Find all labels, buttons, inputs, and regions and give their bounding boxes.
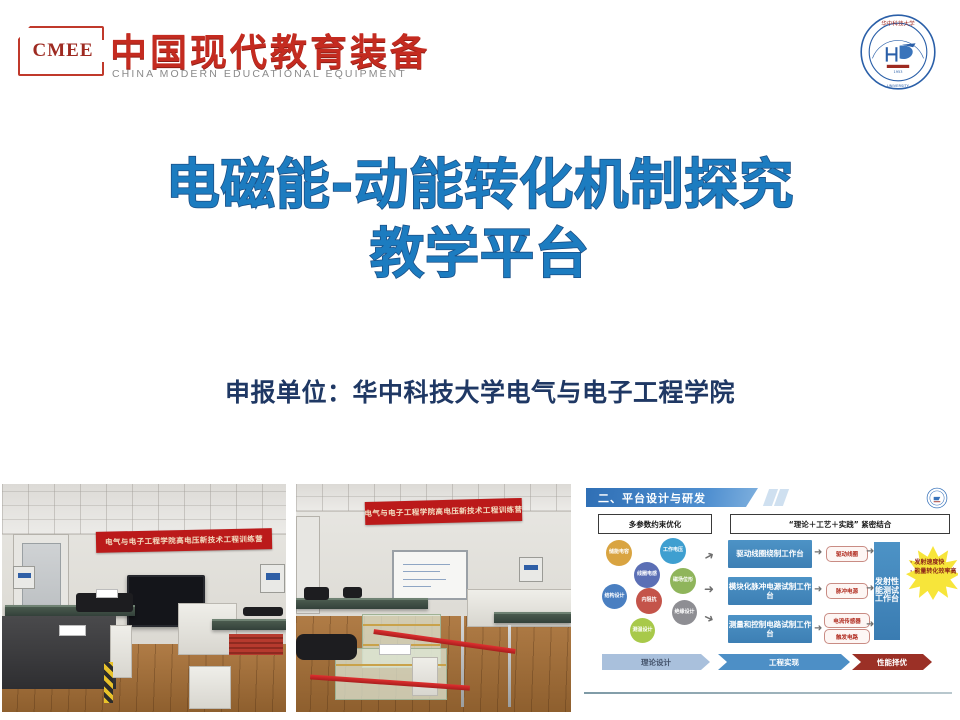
- arrow-to-bench-2: ➜: [704, 583, 714, 595]
- diagram-bottom-rule: [584, 692, 952, 694]
- cmee-logo: CMEE 中国现代教育装备 CHINA MODERN EDUCATIONAL E…: [18, 22, 348, 86]
- gear-1-label: 工作电压: [663, 548, 683, 553]
- gear-7-label: 测温设计: [632, 628, 652, 633]
- slide-page: CMEE 中国现代教育装备 CHINA MODERN EDUCATIONAL E…: [0, 0, 960, 720]
- gear-4: 结构设计: [602, 584, 627, 609]
- lab-training-room-photo: 电气与电子工程学院高电压新技术工程训练营: [2, 484, 286, 712]
- gear-6-label: 绝缘设计: [674, 610, 694, 615]
- gear-2: 线圈电感: [634, 562, 660, 588]
- connector-box-3: 触发电路: [824, 629, 870, 644]
- hust-emblem-small-icon: [926, 487, 948, 509]
- stage-chevron-2: 性能择优: [852, 654, 932, 670]
- connector-box-2: 电流传感器: [824, 613, 870, 628]
- test-bench-box: 发射性能测试工作台: [874, 542, 900, 640]
- workbench-box-1: 模块化脉冲电源试制工作台: [728, 577, 812, 605]
- gear-6: 绝缘设计: [672, 600, 697, 625]
- cmee-mark-label: CMEE: [22, 40, 104, 62]
- arrow-bench-1-out: ➜: [814, 585, 822, 595]
- whiteboard: [392, 550, 468, 600]
- arrow-bench-0-out: ➜: [814, 548, 822, 558]
- highlight-0: · 发射速度快: [910, 558, 958, 567]
- cmee-mark-icon: CMEE: [18, 26, 104, 76]
- stage-chevron-0: 理论设计: [602, 654, 710, 670]
- gear-3-label: 磁场位形: [673, 578, 693, 583]
- workbench-box-0: 驱动线圈绕制工作台: [728, 540, 812, 568]
- connector-box-1: 脉冲电源: [826, 583, 868, 599]
- lab-equipment-photo: 电气与电子工程学院高电压新技术工程训练营: [296, 484, 571, 712]
- gear-3: 磁场位形: [670, 568, 696, 594]
- arrow-to-bench-1: ➜: [702, 548, 717, 563]
- subtitle-applicant: 申报单位：华中科技大学电气与电子工程学院: [0, 373, 960, 409]
- title-line-1: 电磁能-动能转化机制探究: [0, 150, 960, 219]
- svg-text:1953: 1953: [894, 70, 903, 74]
- photo-1-banner-text: 电气与电子工程学院高电压新技术工程训练营: [96, 528, 272, 552]
- title-line-2: 教学平台: [0, 219, 960, 288]
- cmee-english-name: CHINA MODERN EDUCATIONAL EQUIPMENT: [112, 68, 407, 80]
- gear-7: 测温设计: [630, 618, 655, 643]
- page-title: 电磁能-动能转化机制探究 教学平台: [0, 150, 960, 288]
- gear-0: 储能电容: [606, 540, 632, 566]
- stage-chevron-1: 工程实现: [718, 654, 850, 670]
- photo-2-banner-text: 电气与电子工程学院高电压新技术工程训练营: [364, 498, 521, 525]
- connector-box-0: 驱动线圈: [826, 546, 868, 562]
- caption-theory-craft-practice: “理论＋工艺＋实践” 紧密结合: [730, 514, 950, 534]
- svg-text:UNIVERSITY: UNIVERSITY: [887, 84, 910, 88]
- diagram-header-banner: 二、平台设计与研发: [586, 488, 758, 507]
- gear-5-label: 内阻抗: [641, 598, 656, 603]
- highlight-list: · 发射速度快 · 能量转化效率高: [910, 558, 958, 576]
- gear-1: 工作电压: [660, 538, 686, 564]
- gear-0-label: 储能电容: [609, 550, 629, 555]
- hust-emblem-icon: 华中科技大学 1953 UNIVERSITY: [858, 12, 938, 92]
- gear-4-label: 结构设计: [604, 594, 624, 599]
- highlight-1: · 能量转化效率高: [910, 567, 958, 576]
- arrow-to-bench-3: ➜: [702, 610, 716, 625]
- arrow-bench-2-out: ➜: [814, 624, 822, 634]
- workbench-box-2: 测量和控制电路试制工作台: [728, 615, 812, 643]
- platform-design-diagram: 二、平台设计与研发 多参数约束优化 “理论＋工艺＋实践” 紧密结合 储能电容 工…: [578, 484, 958, 712]
- gear-2-label: 线圈电感: [637, 572, 657, 577]
- caption-multi-parameter: 多参数约束优化: [598, 514, 712, 534]
- gear-5: 内阻抗: [636, 588, 662, 614]
- diagram-header-title: 二、平台设计与研发: [598, 490, 706, 506]
